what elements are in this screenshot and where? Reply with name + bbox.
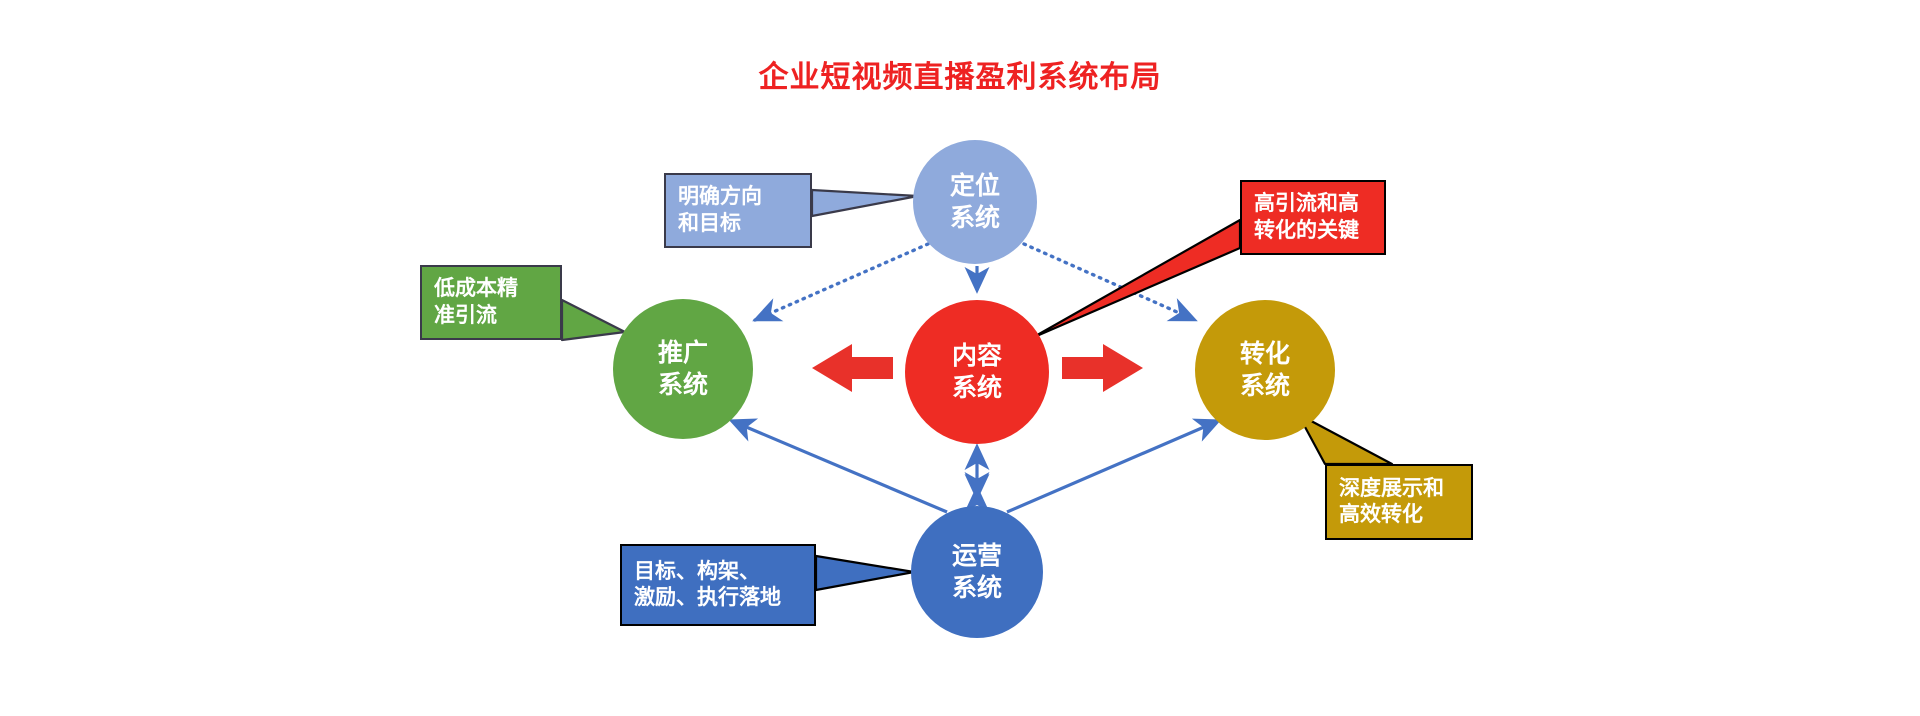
node-label-line1: 运营 [952,540,1002,572]
node-label-line2: 系统 [952,372,1002,404]
callout-positioning-note[interactable]: 明确方向 和目标 [664,173,812,248]
node-operations-system[interactable]: 运营 系统 [911,506,1043,638]
node-conversion-system[interactable]: 转化 系统 [1195,300,1335,440]
callout-line2: 准引流 [434,303,548,329]
node-label-line1: 定位 [950,170,1000,202]
connection-content-to-conversion [1062,344,1143,392]
callout-tail-content [1032,220,1240,338]
node-label-line1: 内容 [952,340,1002,372]
callout-tail-promotion [562,300,625,340]
node-promotion-system[interactable]: 推广 系统 [613,299,753,439]
node-label-line2: 系统 [952,572,1002,604]
diagram-canvas: 企业短视频直播盈利系统布局 定位 系统 推广 系统 内容 系统 转化 系统 运营… [0,0,1920,716]
callout-line2: 和目标 [678,211,798,237]
connection-content-to-promotion [812,344,893,392]
callout-tail-positioning [812,190,918,216]
callout-line1: 深度展示和 [1339,476,1459,502]
callout-line1: 低成本精 [434,276,548,302]
node-content-system[interactable]: 内容 系统 [905,300,1049,444]
callout-tail-operations [816,556,914,590]
node-label-line2: 系统 [950,202,1000,234]
node-label-line1: 转化 [1240,338,1290,370]
node-label-line2: 系统 [1240,370,1290,402]
callout-promotion-note[interactable]: 低成本精 准引流 [420,265,562,340]
node-label-line1: 推广 [658,337,708,369]
callout-line1: 目标、构架、 [634,559,802,585]
callout-line2: 激励、执行落地 [634,585,802,611]
callout-line2: 高效转化 [1339,502,1459,528]
callout-operations-note[interactable]: 目标、构架、 激励、执行落地 [620,544,816,626]
node-label-line2: 系统 [658,369,708,401]
connection-positioning-to-promotion [755,244,928,320]
connection-operations-to-promotion [732,421,947,512]
connection-positioning-to-conversion [1024,244,1195,320]
callout-line1: 高引流和高 [1254,191,1372,217]
callout-content-note[interactable]: 高引流和高 转化的关键 [1240,180,1386,255]
callout-conversion-note[interactable]: 深度展示和 高效转化 [1325,464,1473,540]
node-positioning-system[interactable]: 定位 系统 [913,140,1037,264]
connection-operations-to-conversion [1007,421,1218,512]
callout-line2: 转化的关键 [1254,218,1372,244]
callout-line1: 明确方向 [678,184,798,210]
page-title: 企业短视频直播盈利系统布局 [0,52,1920,96]
